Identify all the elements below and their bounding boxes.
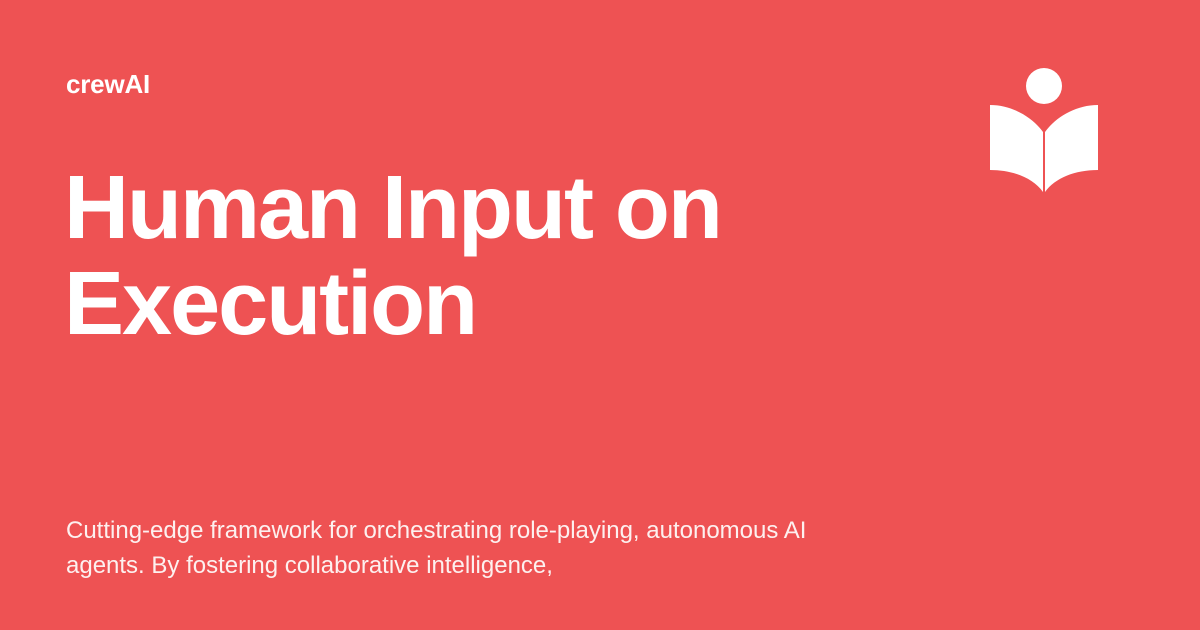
reader-head-circle [1026, 68, 1062, 104]
page-title: Human Input on Execution [64, 160, 864, 352]
page-subtitle: Cutting-edge framework for orchestrating… [66, 513, 886, 583]
book-right-page [1045, 105, 1098, 192]
brand-name: crewAI [66, 71, 150, 97]
logo-mark [985, 60, 1105, 200]
social-preview-card: crewAI Human Input on Execution Cutting-… [0, 0, 1200, 630]
book-left-page [990, 105, 1043, 192]
open-book-reader-icon [985, 60, 1105, 200]
